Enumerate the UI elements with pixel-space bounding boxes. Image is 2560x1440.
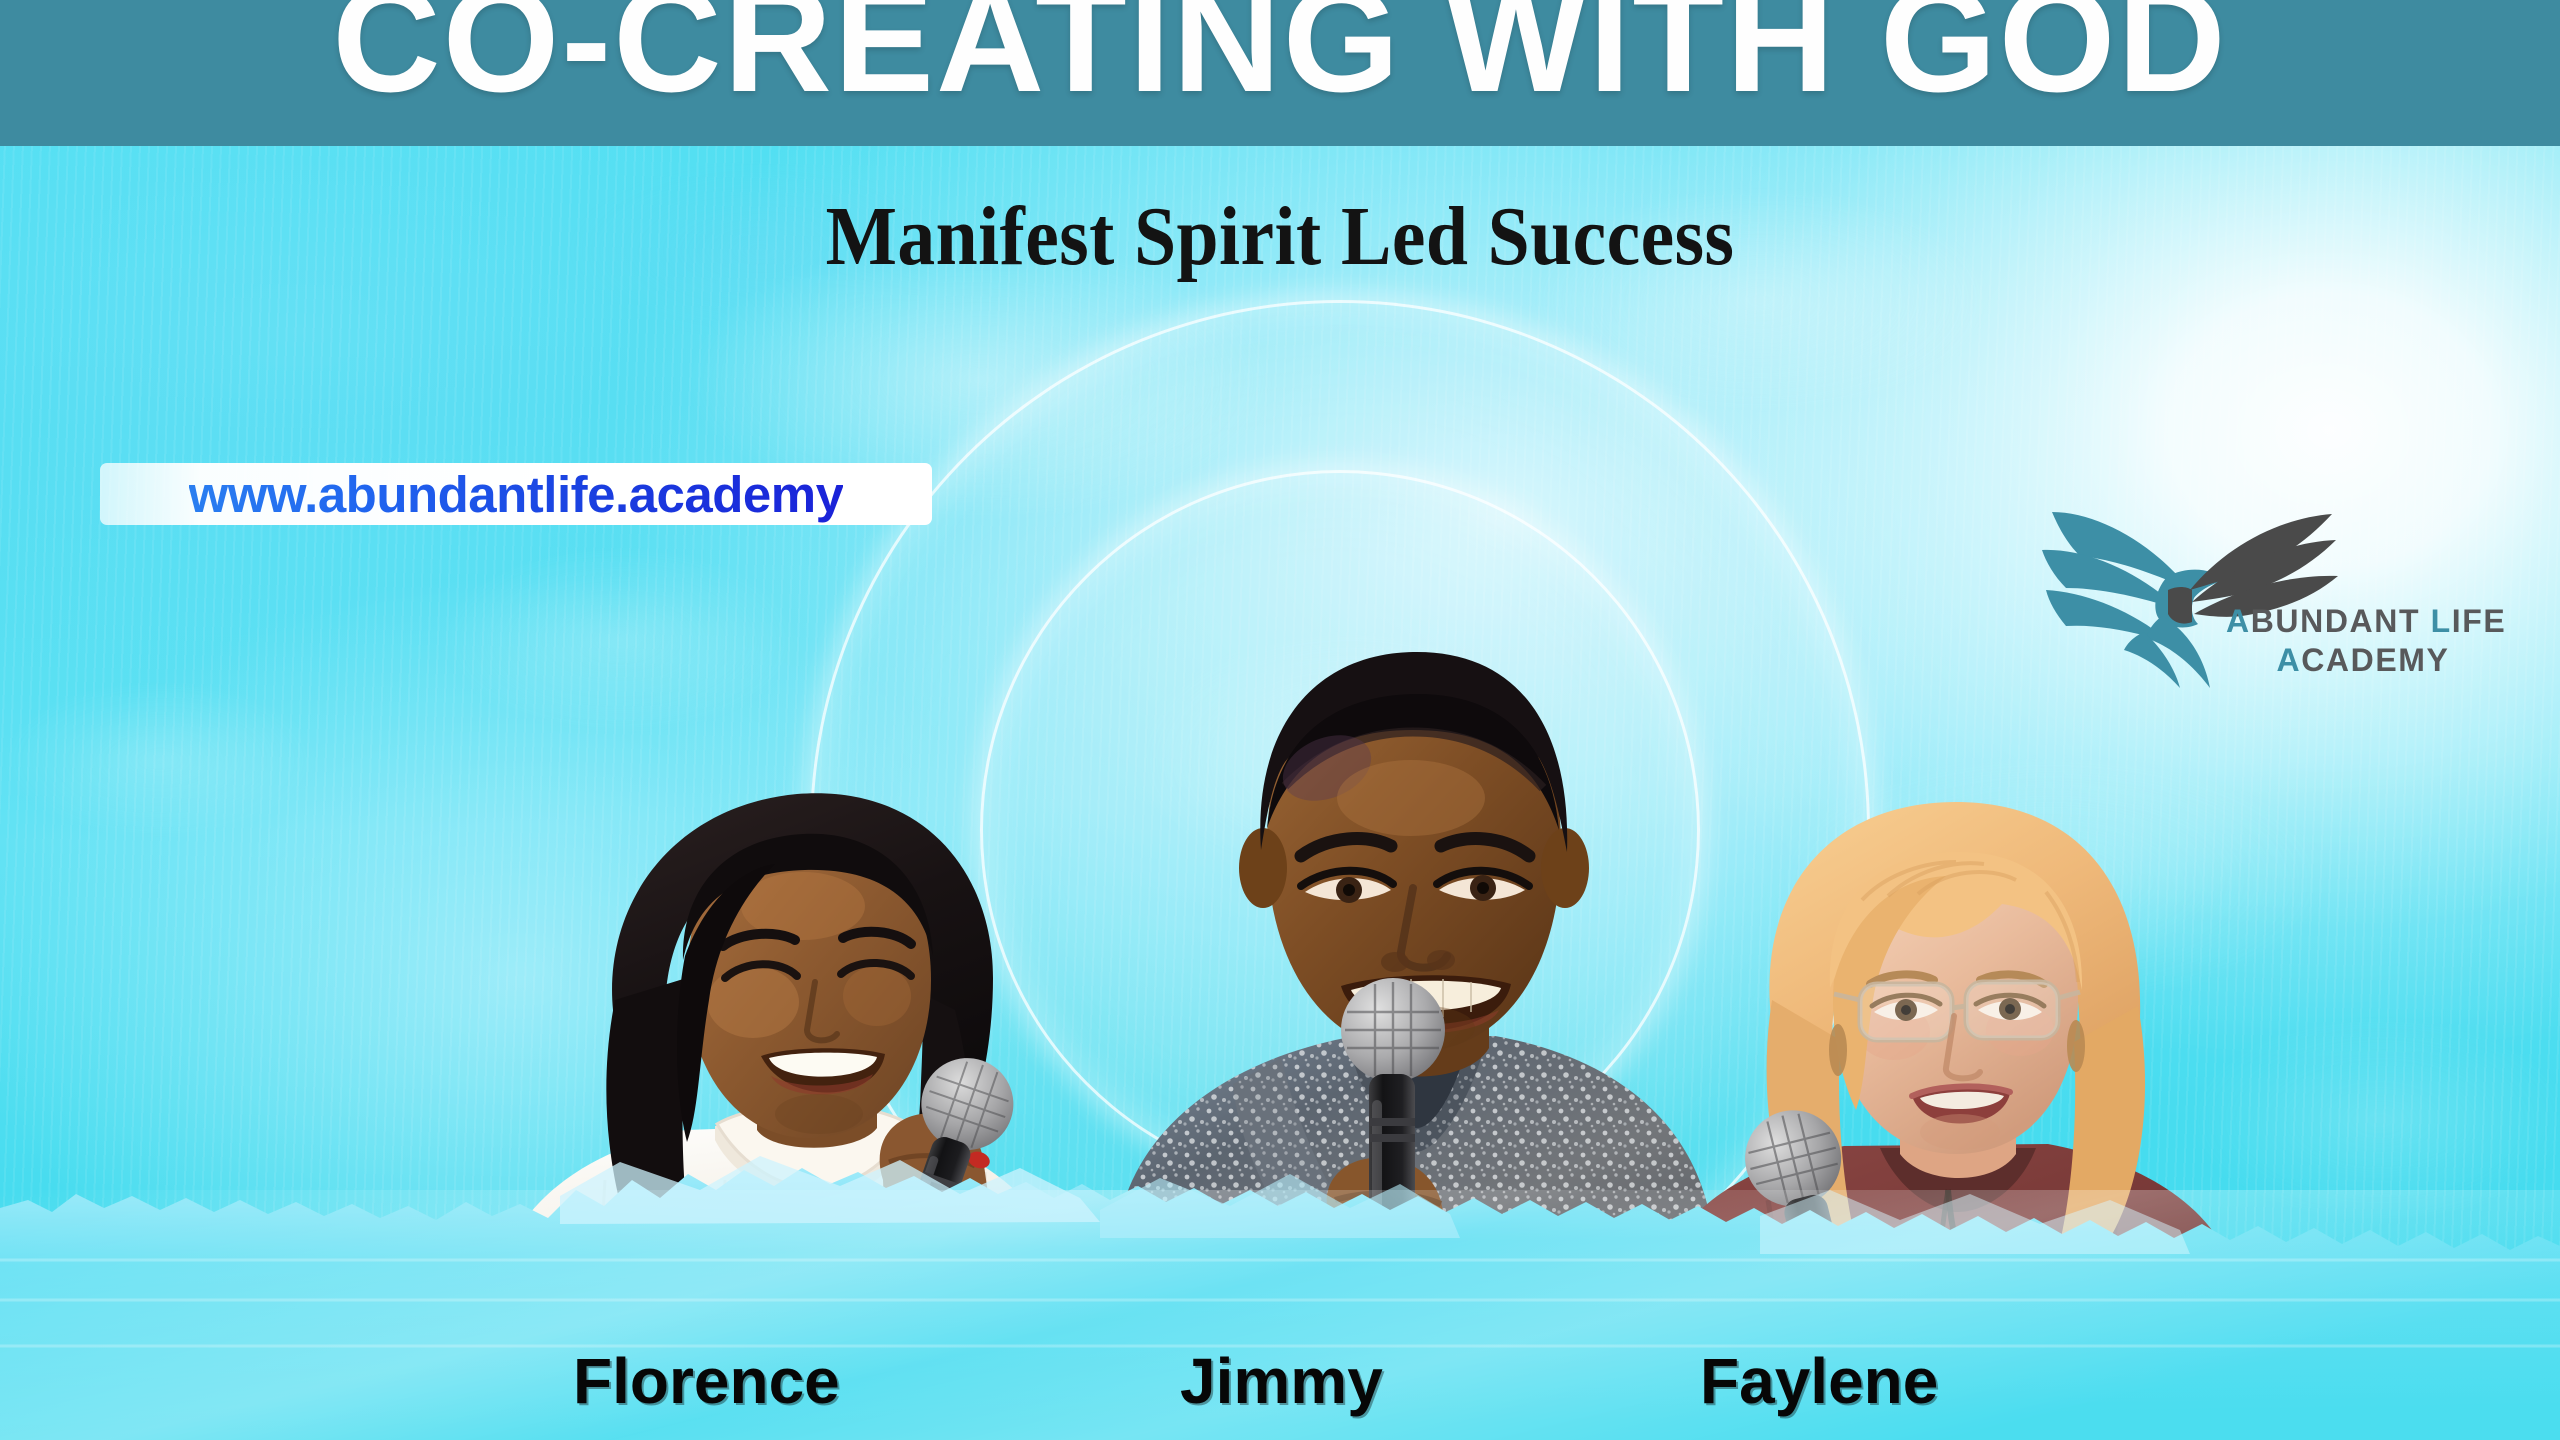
header-banner: CO-CREATING WITH GOD	[0, 0, 2560, 146]
logo-text-cademy: CADEMY	[2301, 642, 2449, 678]
page-title: CO-CREATING WITH GOD	[0, 0, 2560, 114]
speaker-name-florence: Florence	[573, 1344, 840, 1418]
speaker-name-faylene: Faylene	[1700, 1344, 1938, 1418]
logo-wordmark: ABUNDANT LIFE ACADEMY	[2226, 602, 2516, 680]
website-url-badge[interactable]: www.abundantlife.academy	[100, 463, 932, 525]
logo-text-ife: IFE	[2452, 603, 2507, 639]
brand-logo[interactable]: ABUNDANT LIFE ACADEMY	[2040, 498, 2510, 688]
promotional-banner: Florence Jimmy Faylene CO-CREATING WITH …	[0, 0, 2560, 1440]
website-url-text: www.abundantlife.academy	[189, 465, 844, 524]
logo-char-a1: A	[2226, 603, 2251, 639]
speaker-name-jimmy: Jimmy	[1180, 1344, 1383, 1418]
logo-char-l: L	[2431, 603, 2452, 639]
subtitle: Manifest Spirit Led Success	[128, 188, 2432, 285]
logo-char-a2: A	[2277, 642, 2302, 678]
speaker-names-row: Florence Jimmy Faylene	[0, 1320, 2560, 1440]
logo-text-bundant: BUNDANT	[2251, 603, 2420, 639]
